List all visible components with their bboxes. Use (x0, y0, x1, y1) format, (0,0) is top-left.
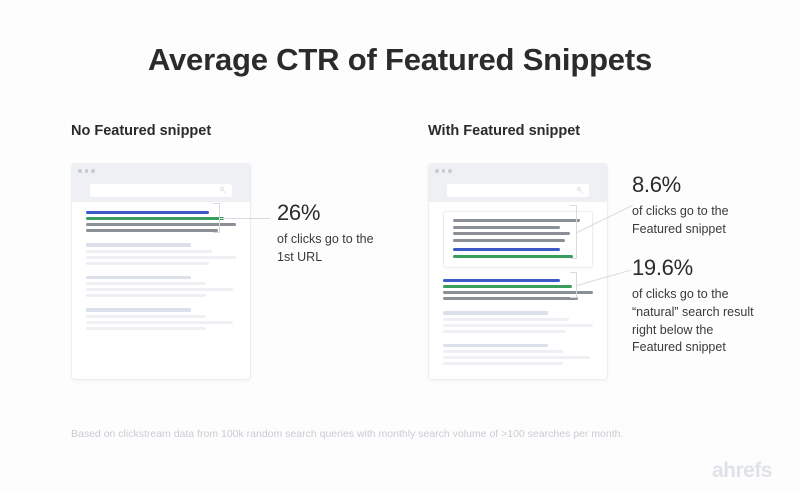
search-result-faded[interactable] (443, 311, 593, 333)
ahrefs-logo: ahrefs (712, 459, 772, 483)
search-input[interactable] (447, 184, 589, 197)
snippet-text-line (453, 239, 565, 242)
infographic-canvas: Average CTR of Featured Snippets No Feat… (0, 0, 800, 493)
window-dot-minimize-icon (85, 169, 89, 173)
result-desc-line (86, 288, 233, 291)
result-desc-line (443, 324, 593, 327)
window-dot-minimize-icon (442, 169, 446, 173)
result-title-line (86, 243, 191, 247)
browser-urlbar-area (429, 178, 607, 202)
callout-description: of clicks go to the 1st URL (277, 231, 387, 267)
serp-results-left (72, 202, 250, 330)
result-desc-line (443, 318, 569, 321)
magnifier-icon (577, 187, 583, 193)
callout-featured-snippet-ctr: 8.6% of clicks go to the Featured snippe… (632, 172, 757, 239)
result-desc-line (443, 356, 590, 359)
result-title-line (86, 308, 191, 312)
result-desc-line (443, 362, 563, 365)
browser-chrome-bar (72, 164, 250, 178)
result-title-line (443, 344, 548, 348)
window-dot-close-icon (435, 169, 439, 173)
search-result-faded[interactable] (443, 344, 593, 366)
callout-description: of clicks go to the Featured snippet (632, 203, 757, 239)
leader-line-left (220, 218, 270, 219)
result-url-line (86, 217, 224, 220)
section-heading-with-featured-snippet: With Featured snippet (428, 123, 580, 139)
callout-percent: 19.6% (632, 255, 757, 281)
result-desc-line (86, 256, 236, 259)
callout-percent: 26% (277, 200, 387, 226)
result-desc-line (443, 350, 563, 353)
result-title-line (443, 311, 548, 315)
result-desc-line (86, 262, 209, 265)
result-desc-line (86, 315, 206, 318)
magnifier-icon (220, 187, 226, 193)
callout-natural-result-ctr: 19.6% of clicks go to the “natural” sear… (632, 255, 757, 357)
search-input[interactable] (90, 184, 232, 197)
bracket-left-first-result (213, 203, 220, 233)
result-desc-line (86, 294, 206, 297)
window-dot-maximize-icon (91, 169, 95, 173)
callout-no-snippet-first-url: 26% of clicks go to the 1st URL (277, 200, 387, 267)
page-title: Average CTR of Featured Snippets (0, 42, 800, 78)
result-title-line (443, 279, 560, 282)
section-heading-no-featured-snippet: No Featured snippet (71, 123, 211, 139)
result-desc-line (86, 327, 206, 330)
result-desc-line (443, 330, 566, 333)
search-result-faded[interactable] (86, 308, 236, 330)
window-dot-maximize-icon (448, 169, 452, 173)
result-title-line (86, 276, 191, 280)
result-desc-line (86, 229, 218, 232)
snippet-text-line (453, 232, 570, 235)
callout-percent: 8.6% (632, 172, 757, 198)
result-desc-line (86, 282, 206, 285)
result-desc-line (86, 321, 233, 324)
snippet-text-line (453, 226, 560, 229)
search-result-faded[interactable] (86, 276, 236, 298)
browser-urlbar-area (72, 178, 250, 202)
browser-mockup-with-snippet (428, 163, 608, 380)
result-title-line (86, 211, 209, 214)
snippet-source-url-line (453, 255, 573, 258)
browser-chrome-bar (429, 164, 607, 178)
result-url-line (443, 285, 572, 288)
callout-description: of clicks go to the “natural” search res… (632, 286, 757, 357)
source-footnote: Based on clickstream data from 100k rand… (71, 428, 623, 440)
browser-mockup-no-snippet (71, 163, 251, 380)
snippet-source-title-line (453, 248, 560, 251)
snippet-text-line (453, 219, 580, 222)
search-result-faded[interactable] (86, 243, 236, 265)
window-dot-close-icon (78, 169, 82, 173)
result-desc-line (443, 297, 578, 300)
result-desc-line (86, 250, 212, 253)
